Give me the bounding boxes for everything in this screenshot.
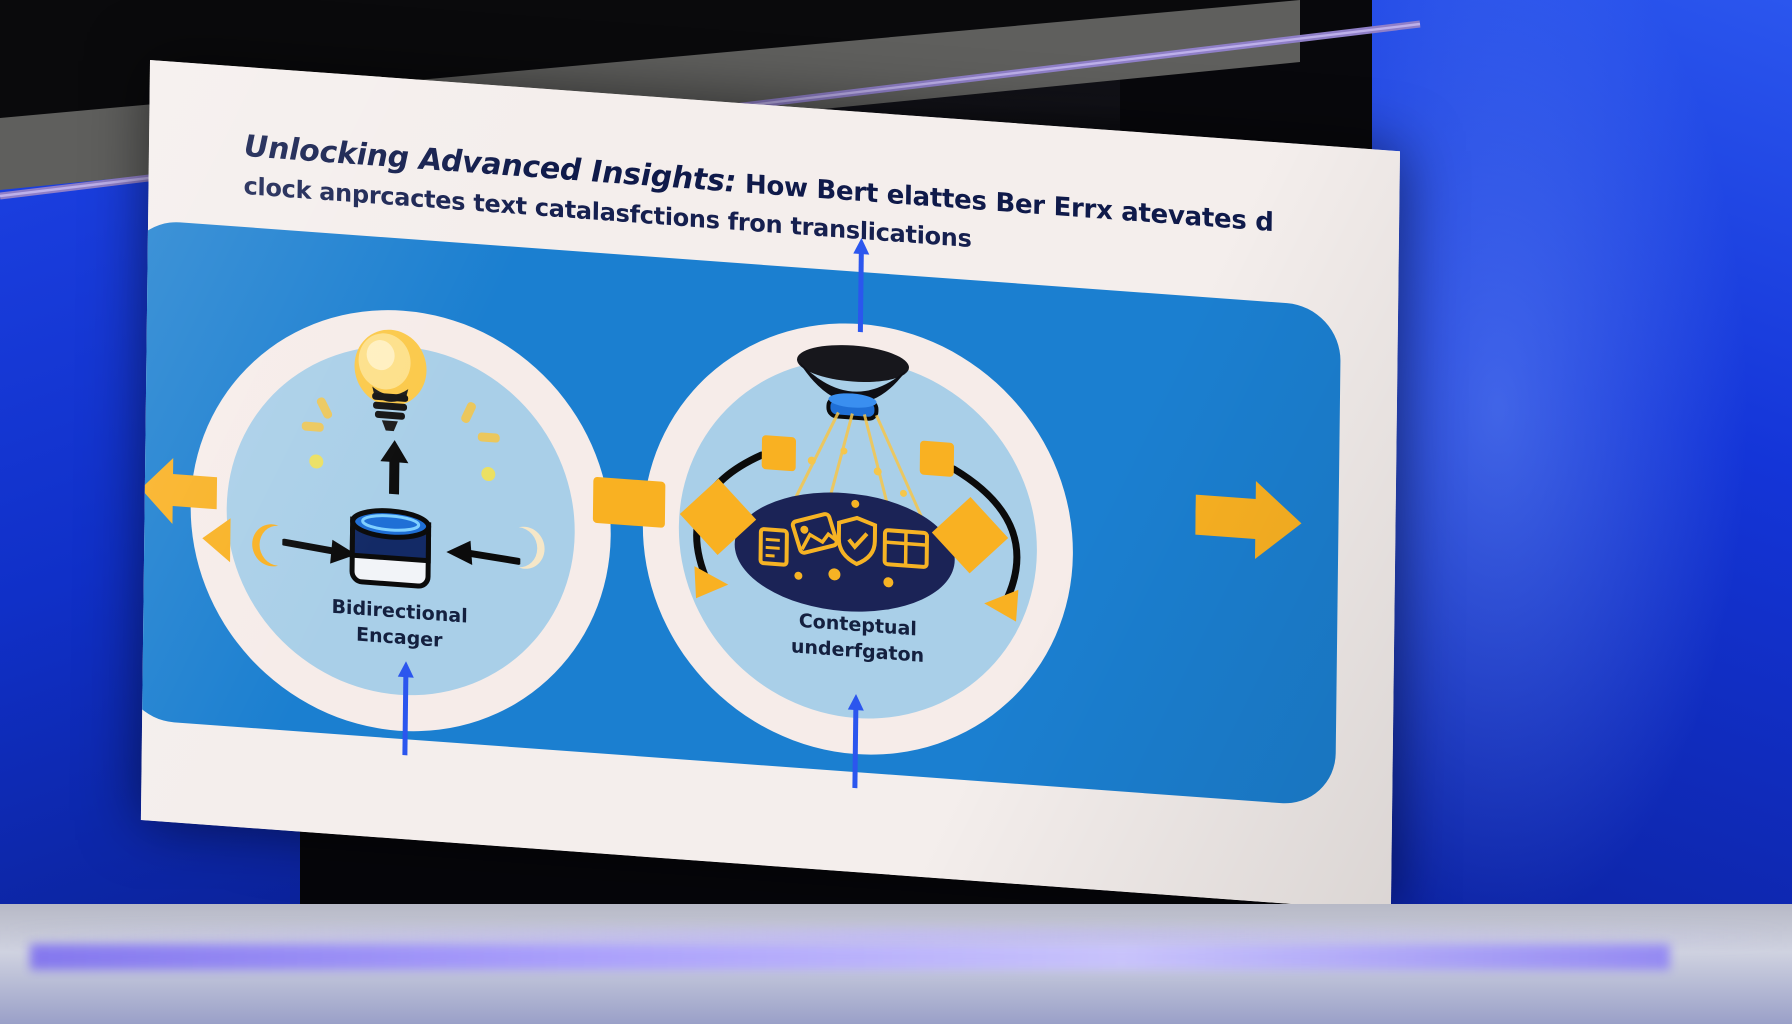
arrow-up-icon [377,435,412,497]
center-connector-block [593,477,666,528]
lightbulb-icon [344,324,437,441]
slide: Unlocking Advanced Insights: How Bert el… [141,60,1400,911]
dot-icon [851,500,859,509]
light-ray [478,432,500,443]
square-marker-top-right [920,441,954,477]
light-ray [302,421,324,432]
stage-glow-diffuse [0,930,1792,944]
stage-glow-strip [30,944,1670,970]
crescent-right-icon [508,525,549,572]
screenshot-root: Unlocking Advanced Insights: How Bert el… [0,0,1792,1024]
arrow-right-icon [282,528,362,574]
top-flow-arrow-right [849,237,872,335]
bottom-flow-arrow-left [394,660,417,758]
diagram-panel: Bidirectional Encager [141,218,1341,807]
shield-icon [839,517,876,566]
bottom-flow-arrow-right [844,693,867,791]
right-flow-arrow-icon [1195,473,1306,567]
projection-screen-wrap: Unlocking Advanced Insights: How Bert el… [0,0,1792,1024]
dot-icon [828,568,840,581]
light-ray [309,454,323,469]
projection-screen: Unlocking Advanced Insights: How Bert el… [141,60,1400,911]
light-ray [481,467,495,482]
square-marker-top [762,435,796,471]
left-flow-arrow-icon [141,454,219,530]
